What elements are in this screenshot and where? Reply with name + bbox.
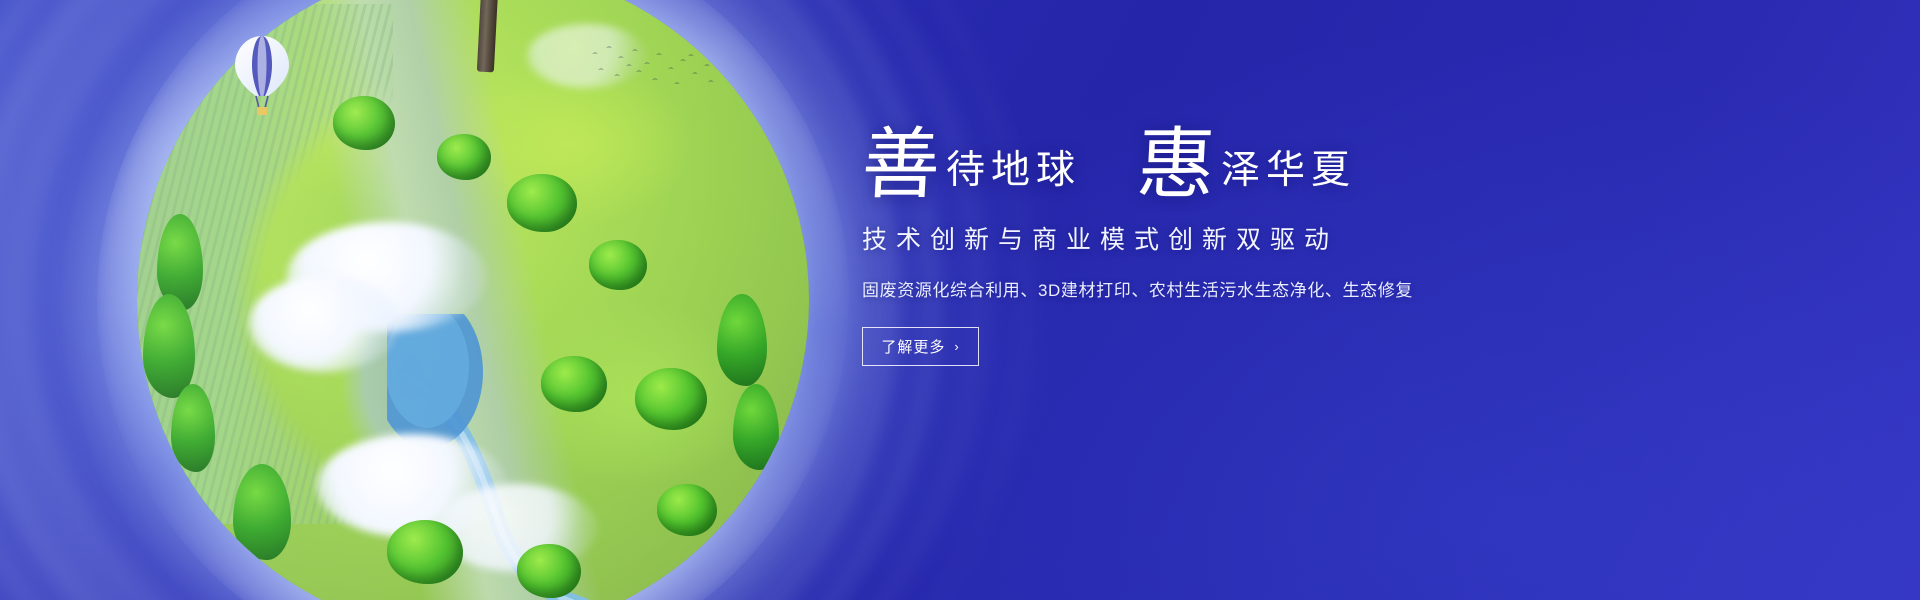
globe-shrub-5	[541, 356, 607, 412]
globe-shrub-9	[657, 484, 717, 536]
banner-subtitle: 技术创新与商业模式创新双驱动	[862, 220, 1502, 256]
globe-shrub-2	[437, 134, 491, 180]
globe-shrub-1	[333, 96, 395, 150]
bird-flock-icon	[588, 44, 718, 96]
learn-more-label: 了解更多	[881, 336, 945, 357]
globe-shrub-7	[387, 520, 463, 584]
headline-char-shan: 善	[860, 128, 942, 202]
globe-shrub-8	[517, 544, 581, 598]
learn-more-button[interactable]: 了解更多 ›	[862, 327, 979, 366]
banner-content: 善 待地球 惠 泽华夏 技术创新与商业模式创新双驱动 固废资源化综合利用、3D建…	[862, 128, 1502, 366]
headline-zehuaxia: 泽华夏	[1221, 151, 1356, 202]
globe-shrub-3	[507, 174, 577, 232]
chevron-right-icon: ›	[954, 340, 959, 353]
globe-shrub-4	[589, 240, 647, 290]
hero-banner: 善 待地球 惠 泽华夏 技术创新与商业模式创新双驱动 固废资源化综合利用、3D建…	[0, 0, 1920, 600]
hot-air-balloon-icon	[232, 34, 292, 122]
banner-description: 固废资源化综合利用、3D建材打印、农村生活污水生态净化、生态修复	[862, 276, 1502, 301]
banner-headline: 善 待地球 惠 泽华夏	[862, 128, 1502, 202]
globe-cloud-2	[249, 276, 399, 372]
globe-shrub-6	[635, 368, 707, 430]
headline-char-hui: 惠	[1135, 128, 1217, 202]
headline-daidiqiu: 待地球	[946, 151, 1081, 202]
